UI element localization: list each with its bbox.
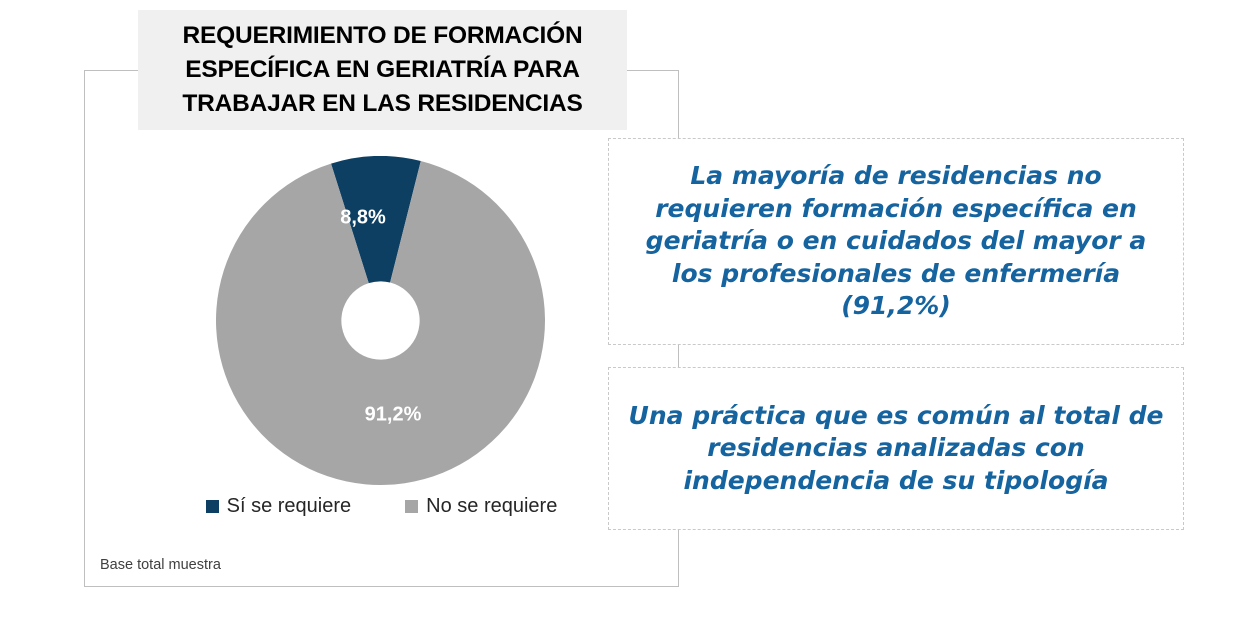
legend-swatch-no <box>405 500 418 513</box>
callout-box-2: Una práctica que es común al total de re… <box>608 367 1184 530</box>
legend-label-no: No se requiere <box>426 496 557 516</box>
donut-chart: 8,8% 91,2% <box>216 156 545 485</box>
legend-item-no[interactable]: No se requiere <box>405 496 557 516</box>
title-banner: REQUERIMIENTO DE FORMACIÓN ESPECÍFICA EN… <box>138 10 627 130</box>
legend-item-si[interactable]: Sí se requiere <box>206 496 352 516</box>
callout-text-2: Una práctica que es común al total de re… <box>609 400 1183 498</box>
callout-text-1: La mayoría de residencias no requieren f… <box>609 160 1183 323</box>
legend-swatch-si <box>206 500 219 513</box>
panel-connector-box <box>627 70 679 139</box>
slide-canvas: REQUERIMIENTO DE FORMACIÓN ESPECÍFICA EN… <box>0 0 1242 621</box>
donut-chart-svg <box>216 156 545 485</box>
legend-label-si: Sí se requiere <box>227 496 352 516</box>
callout-box-1: La mayoría de residencias no requieren f… <box>608 138 1184 345</box>
base-note: Base total muestra <box>100 557 221 573</box>
chart-legend: Sí se requiere No se requiere <box>84 496 679 516</box>
page-title: REQUERIMIENTO DE FORMACIÓN ESPECÍFICA EN… <box>170 19 594 120</box>
